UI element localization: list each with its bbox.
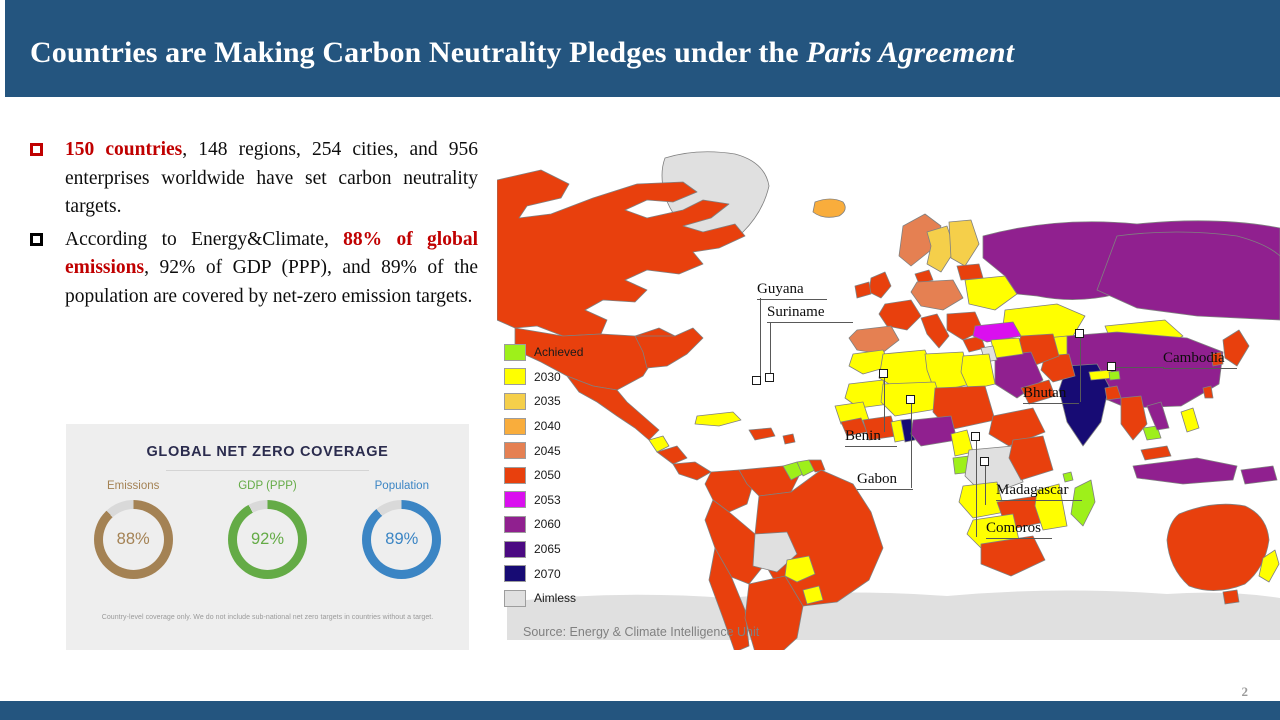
map-region-taiwan bbox=[1203, 386, 1213, 398]
callout-leader-line bbox=[911, 400, 912, 488]
map-region-france bbox=[879, 300, 921, 330]
page-title: Countries are Making Carbon Neutrality P… bbox=[30, 36, 1260, 70]
callout-leader-line bbox=[1112, 367, 1164, 368]
bullet-text: 150 countries, 148 regions, 254 cities, … bbox=[65, 136, 478, 222]
world-map-svg bbox=[497, 140, 1280, 650]
callout-leader-line bbox=[760, 298, 761, 300]
donut-center: 92% bbox=[237, 509, 298, 570]
legend-item-2065: 2065 bbox=[504, 537, 599, 562]
callout-label: Comoros bbox=[986, 520, 1052, 539]
map-source-text: Source: Energy & Climate Intelligence Un… bbox=[523, 625, 759, 639]
donut-value: 88% bbox=[117, 530, 150, 549]
callout-marker bbox=[1075, 329, 1084, 338]
map-region-australia bbox=[1167, 504, 1269, 590]
map-region-spain-portugal bbox=[849, 326, 899, 354]
legend-label: 2053 bbox=[534, 493, 561, 507]
world-map bbox=[497, 140, 1280, 650]
legend-item-2050: 2050 bbox=[504, 463, 599, 488]
map-region-iceland bbox=[813, 199, 845, 217]
map-region-malaysia bbox=[1141, 446, 1171, 460]
donut-ring: 89% bbox=[362, 500, 441, 579]
legend-swatch-icon bbox=[504, 491, 526, 508]
donut-value: 92% bbox=[251, 530, 284, 549]
callout-leader-line bbox=[770, 322, 771, 377]
legend-label: Aimless bbox=[534, 591, 576, 605]
map-region-uk bbox=[869, 272, 891, 298]
donut-label: GDP (PPP) bbox=[238, 480, 297, 492]
callout-label: Bhutan bbox=[1023, 385, 1079, 404]
map-region-finland bbox=[949, 220, 979, 266]
legend-swatch-icon bbox=[504, 565, 526, 582]
callout-label: Guyana bbox=[757, 281, 827, 300]
legend-label: 2060 bbox=[534, 517, 561, 531]
callout-marker bbox=[971, 432, 980, 441]
legend-label: 2065 bbox=[534, 542, 561, 556]
legend-label: Achieved bbox=[534, 345, 583, 359]
callout-leader-line bbox=[985, 463, 986, 505]
callout-marker bbox=[765, 373, 774, 382]
map-region-comoros bbox=[1063, 472, 1073, 482]
map-region-ireland bbox=[855, 282, 871, 298]
legend-swatch-icon bbox=[504, 442, 526, 459]
donut-label: Population bbox=[375, 480, 429, 492]
infographic-divider bbox=[166, 470, 369, 471]
legend-item-aimless: Aimless bbox=[504, 586, 599, 611]
legend-label: 2045 bbox=[534, 444, 561, 458]
legend-swatch-icon bbox=[504, 368, 526, 385]
donut-chart-group: Emissions88%GDP (PPP)92%Population89% bbox=[66, 480, 469, 579]
donut-label: Emissions bbox=[107, 480, 159, 492]
infographic-title: GLOBAL NET ZERO COVERAGE bbox=[66, 444, 469, 460]
map-region-germany-poland bbox=[911, 280, 963, 310]
callout-marker bbox=[980, 457, 989, 466]
map-legend: Achieved20302035204020452050205320602065… bbox=[504, 340, 599, 611]
legend-item-2060: 2060 bbox=[504, 512, 599, 537]
donut-population: Population89% bbox=[343, 480, 461, 579]
callout-marker bbox=[1107, 362, 1116, 371]
callout-label: Madagascar bbox=[996, 482, 1082, 501]
callout-leader-line bbox=[884, 374, 885, 432]
map-region-bhutan-hl bbox=[1109, 371, 1120, 380]
map-region-indonesia bbox=[1133, 458, 1237, 484]
legend-swatch-icon bbox=[504, 467, 526, 484]
map-region-caribbean-isles bbox=[783, 434, 795, 444]
callout-label: Benin bbox=[845, 428, 897, 447]
map-region-papua-new-guinea bbox=[1241, 466, 1277, 484]
global-net-zero-coverage-card: GLOBAL NET ZERO COVERAGE Emissions88%GDP… bbox=[66, 424, 469, 650]
legend-label: 2035 bbox=[534, 394, 561, 408]
callout-marker bbox=[906, 395, 915, 404]
callout-leader-line bbox=[976, 437, 977, 537]
footer-bar bbox=[0, 701, 1280, 720]
legend-swatch-icon bbox=[504, 541, 526, 558]
infographic-footnote: Country-level coverage only. We do not i… bbox=[66, 614, 469, 621]
page-title-italic: Paris Agreement bbox=[806, 36, 1014, 69]
map-region-russia-east bbox=[1097, 232, 1280, 320]
legend-label: 2070 bbox=[534, 567, 561, 581]
bullet-square-icon bbox=[30, 233, 43, 246]
legend-item-2045: 2045 bbox=[504, 438, 599, 463]
legend-swatch-icon bbox=[504, 516, 526, 533]
map-region-italy bbox=[921, 314, 949, 348]
donut-center: 89% bbox=[371, 509, 432, 570]
legend-swatch-icon bbox=[504, 393, 526, 410]
map-region-costa-rica-panama bbox=[673, 462, 711, 480]
page-number: 2 bbox=[1242, 684, 1249, 700]
legend-item-2053: 2053 bbox=[504, 488, 599, 513]
legend-swatch-icon bbox=[504, 590, 526, 607]
map-region-philippines bbox=[1181, 408, 1199, 432]
map-region-nigeria bbox=[911, 416, 957, 446]
legend-item-2030: 2030 bbox=[504, 365, 599, 390]
legend-label: 2050 bbox=[534, 468, 561, 482]
bullet-list: 150 countries, 148 regions, 254 cities, … bbox=[30, 136, 485, 315]
donut-emissions: Emissions88% bbox=[74, 480, 192, 579]
callout-label: Suriname bbox=[767, 304, 853, 323]
map-region-cuba bbox=[695, 412, 741, 426]
donut-ring: 88% bbox=[94, 500, 173, 579]
legend-swatch-icon bbox=[504, 344, 526, 361]
donut-ring: 92% bbox=[228, 500, 307, 579]
legend-label: 2040 bbox=[534, 419, 561, 433]
callout-marker bbox=[752, 376, 761, 385]
callout-label: Gabon bbox=[857, 471, 913, 490]
callout-marker bbox=[879, 369, 888, 378]
legend-item-2035: 2035 bbox=[504, 389, 599, 414]
bullet-square-icon bbox=[30, 143, 43, 156]
legend-item-2070: 2070 bbox=[504, 561, 599, 586]
legend-item-2040: 2040 bbox=[504, 414, 599, 439]
donut-center: 88% bbox=[103, 509, 164, 570]
legend-swatch-icon bbox=[504, 418, 526, 435]
callout-leader-line bbox=[1080, 334, 1081, 402]
legend-item-achieved: Achieved bbox=[504, 340, 599, 365]
bullet-text: According to Energy&Climate, 88% of glob… bbox=[65, 226, 478, 312]
map-region-tasmania bbox=[1223, 590, 1239, 604]
legend-label: 2030 bbox=[534, 370, 561, 384]
donut-gdp-ppp: GDP (PPP)92% bbox=[208, 480, 326, 579]
callout-label: Cambodia bbox=[1163, 350, 1237, 369]
map-region-baltics bbox=[957, 264, 983, 280]
list-item: According to Energy&Climate, 88% of glob… bbox=[30, 226, 485, 312]
map-region-hispaniola bbox=[749, 428, 775, 440]
donut-value: 89% bbox=[385, 530, 418, 549]
page-title-main: Countries are Making Carbon Neutrality P… bbox=[30, 36, 806, 69]
bullet-highlight: 150 countries bbox=[65, 139, 182, 160]
callout-leader-line bbox=[760, 299, 761, 380]
bullet-plain: According to Energy&Climate, bbox=[65, 229, 343, 250]
list-item: 150 countries, 148 regions, 254 cities, … bbox=[30, 136, 485, 222]
